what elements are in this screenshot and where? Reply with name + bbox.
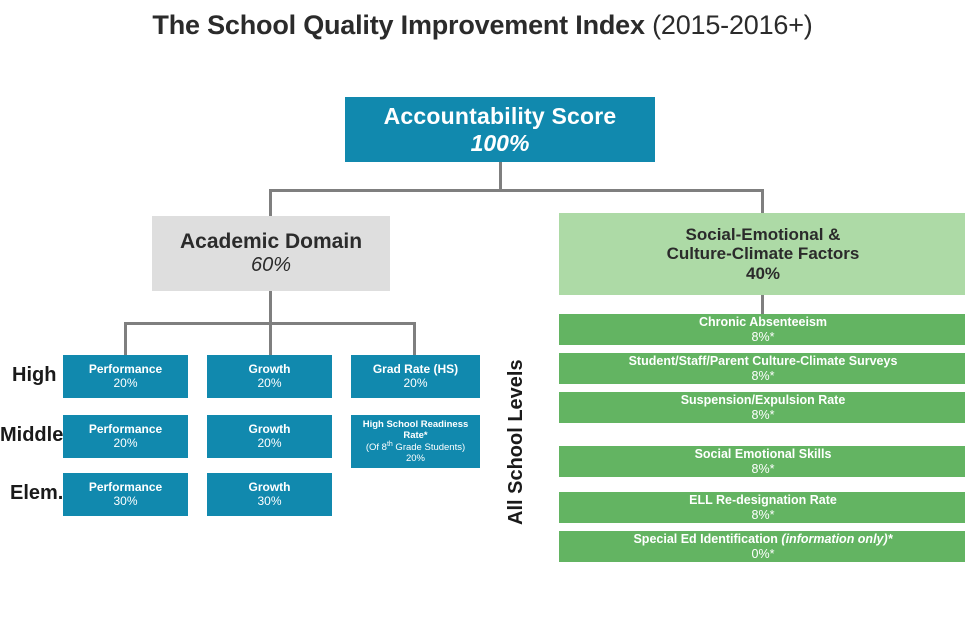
academic-domain-value: 60%	[251, 254, 291, 277]
diagram-canvas: The School Quality Improvement Index (20…	[0, 0, 965, 643]
row-label-elem: Elem.	[10, 482, 63, 505]
accountability-score-value: 100%	[471, 130, 530, 156]
node-chronic-absenteeism[interactable]: Chronic Absenteeism 8%*	[559, 314, 965, 345]
row-label-middle: Middle	[0, 424, 63, 447]
leaf-value: 20%	[113, 437, 137, 451]
leaf-label: Performance	[89, 363, 162, 377]
node-accountability-score[interactable]: Accountability Score 100%	[345, 97, 655, 162]
leaf-sublabel: (Of 8th Grade Students)	[366, 441, 465, 453]
connector-academic-drop-1	[124, 322, 127, 356]
node-high-growth[interactable]: Growth 20%	[207, 355, 332, 398]
factor-value: 8%*	[752, 462, 775, 476]
leaf-label: Grad Rate (HS)	[373, 363, 458, 377]
factor-label: ELL Re-designation Rate	[689, 493, 837, 507]
all-school-levels-label: All School Levels	[505, 359, 528, 525]
node-special-ed-identification[interactable]: Special Ed Identification (information o…	[559, 531, 965, 562]
node-high-grad-rate[interactable]: Grad Rate (HS) 20%	[351, 355, 480, 398]
node-high-performance[interactable]: Performance 20%	[63, 355, 188, 398]
connector-root-bus	[269, 189, 764, 192]
connector-academic-drop-2	[269, 322, 272, 356]
leaf-value: 20%	[403, 377, 427, 391]
factor-value: 8%*	[752, 408, 775, 422]
factor-value: 8%*	[752, 330, 775, 344]
connector-academic-drop	[269, 189, 272, 217]
leaf-label: Growth	[249, 363, 291, 377]
factor-label-note: (information only)*	[781, 532, 892, 546]
leaf-value: 20%	[257, 437, 281, 451]
connector-academic-drop-3	[413, 322, 416, 356]
factor-value: 0%*	[752, 547, 775, 561]
factor-label-combined: Special Ed Identification (information o…	[633, 532, 892, 546]
connector-sec-stem	[761, 295, 764, 315]
factor-label: Suspension/Expulsion Rate	[681, 393, 846, 407]
connector-root-stem	[499, 162, 502, 191]
node-sec-factors[interactable]: Social-Emotional & Culture-Climate Facto…	[559, 213, 965, 295]
factor-label: Student/Staff/Parent Culture-Climate Sur…	[629, 354, 898, 368]
node-middle-growth[interactable]: Growth 20%	[207, 415, 332, 458]
leaf-label: Performance	[89, 423, 162, 437]
page-title-main: The School Quality Improvement Index	[152, 10, 644, 40]
connector-sec-drop	[761, 189, 764, 214]
node-suspension-expulsion-rate[interactable]: Suspension/Expulsion Rate 8%*	[559, 392, 965, 423]
node-academic-domain[interactable]: Academic Domain 60%	[152, 216, 390, 291]
node-elem-performance[interactable]: Performance 30%	[63, 473, 188, 516]
sec-factors-value: 40%	[746, 264, 780, 284]
factor-label: Special Ed Identification	[633, 532, 781, 546]
leaf-label: Growth	[249, 423, 291, 437]
page-title: The School Quality Improvement Index (20…	[0, 10, 965, 41]
node-culture-climate-surveys[interactable]: Student/Staff/Parent Culture-Climate Sur…	[559, 353, 965, 384]
connector-academic-stem	[269, 291, 272, 323]
sec-factors-label-line1: Social-Emotional &	[686, 225, 841, 245]
factor-value: 8%*	[752, 508, 775, 522]
leaf-label: High School Readiness Rate*	[351, 419, 480, 441]
accountability-score-label: Accountability Score	[384, 103, 617, 129]
academic-domain-label: Academic Domain	[180, 230, 362, 254]
node-middle-performance[interactable]: Performance 20%	[63, 415, 188, 458]
factor-label: Social Emotional Skills	[695, 447, 832, 461]
sec-factors-label-line2: Culture-Climate Factors	[667, 244, 860, 264]
factor-label: Chronic Absenteeism	[699, 315, 827, 329]
leaf-value: 20%	[257, 377, 281, 391]
leaf-value: 30%	[113, 495, 137, 509]
factor-value: 8%*	[752, 369, 775, 383]
page-title-years: (2015-2016+)	[645, 10, 813, 40]
node-middle-hs-readiness[interactable]: High School Readiness Rate* (Of 8th Grad…	[351, 415, 480, 468]
node-elem-growth[interactable]: Growth 30%	[207, 473, 332, 516]
node-ell-redesignation-rate[interactable]: ELL Re-designation Rate 8%*	[559, 492, 965, 523]
leaf-value: 30%	[257, 495, 281, 509]
leaf-label: Growth	[249, 481, 291, 495]
leaf-label: Performance	[89, 481, 162, 495]
node-social-emotional-skills[interactable]: Social Emotional Skills 8%*	[559, 446, 965, 477]
row-label-high: High	[12, 364, 56, 387]
leaf-value: 20%	[406, 453, 425, 464]
leaf-value: 20%	[113, 377, 137, 391]
